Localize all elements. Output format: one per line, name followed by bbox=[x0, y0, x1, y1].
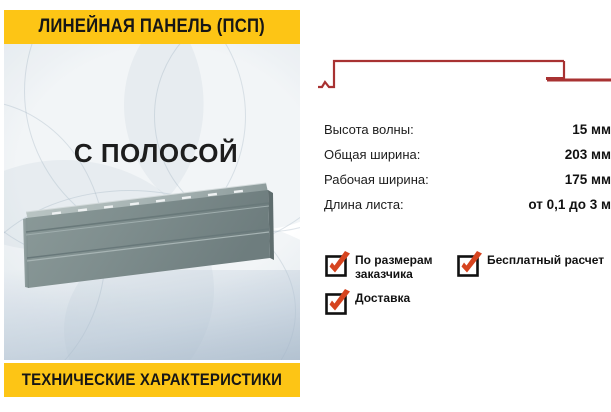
spec-label: Рабочая ширина: bbox=[324, 172, 429, 187]
feature-item: По размерам заказчика bbox=[324, 252, 456, 282]
feature-item: Доставка bbox=[324, 290, 456, 315]
left-column: С ПОЛОСОЙ bbox=[4, 10, 300, 402]
spec-label: Длина листа: bbox=[324, 197, 404, 212]
features-row: По размерам заказчика Бесплатный расчет bbox=[324, 252, 611, 282]
profile-diagram bbox=[310, 44, 611, 94]
spec-value: от 0,1 до 3 м bbox=[528, 197, 611, 212]
right-column: Высота волны: 15 мм Общая ширина: 203 мм… bbox=[310, 0, 611, 412]
specs-table: Высота волны: 15 мм Общая ширина: 203 мм… bbox=[324, 122, 611, 222]
features-row: Доставка bbox=[324, 290, 611, 315]
spec-row: Общая ширина: 203 мм bbox=[324, 147, 611, 162]
spec-row: Длина листа: от 0,1 до 3 м bbox=[324, 197, 611, 212]
infographic-page: С ПОЛОСОЙ ЛИНЕЙНАЯ ПАНЕЛЬ (ПСП) ТЕХНИЧЕС… bbox=[0, 0, 611, 412]
spec-label: Общая ширина: bbox=[324, 147, 420, 162]
spec-row: Рабочая ширина: 175 мм bbox=[324, 172, 611, 187]
feature-label: По размерам заказчика bbox=[355, 252, 456, 282]
checkbox-checked-icon bbox=[456, 253, 480, 277]
product-image bbox=[16, 180, 300, 300]
page-headline: С ПОЛОСОЙ bbox=[8, 138, 300, 169]
spec-value: 15 мм bbox=[572, 122, 611, 137]
title-bar: ЛИНЕЙНАЯ ПАНЕЛЬ (ПСП) bbox=[4, 10, 300, 44]
spec-row: Высота волны: 15 мм bbox=[324, 122, 611, 137]
features-list: По размерам заказчика Бесплатный расчет bbox=[324, 252, 611, 323]
feature-item: Бесплатный расчет bbox=[456, 252, 606, 282]
feature-label: Бесплатный расчет bbox=[487, 252, 604, 268]
spec-value: 175 мм bbox=[565, 172, 611, 187]
feature-label: Доставка bbox=[355, 290, 410, 306]
title-bar-label: ЛИНЕЙНАЯ ПАНЕЛЬ (ПСП) bbox=[39, 16, 265, 38]
checkbox-checked-icon bbox=[324, 291, 348, 315]
spec-label: Высота волны: bbox=[324, 122, 414, 137]
footer-bar-left: ТЕХНИЧЕСКИЕ ХАРАКТЕРИСТИКИ bbox=[4, 363, 300, 397]
footer-bar-left-label: ТЕХНИЧЕСКИЕ ХАРАКТЕРИСТИКИ bbox=[22, 370, 282, 390]
spec-value: 203 мм bbox=[565, 147, 611, 162]
checkbox-checked-icon bbox=[324, 253, 348, 277]
